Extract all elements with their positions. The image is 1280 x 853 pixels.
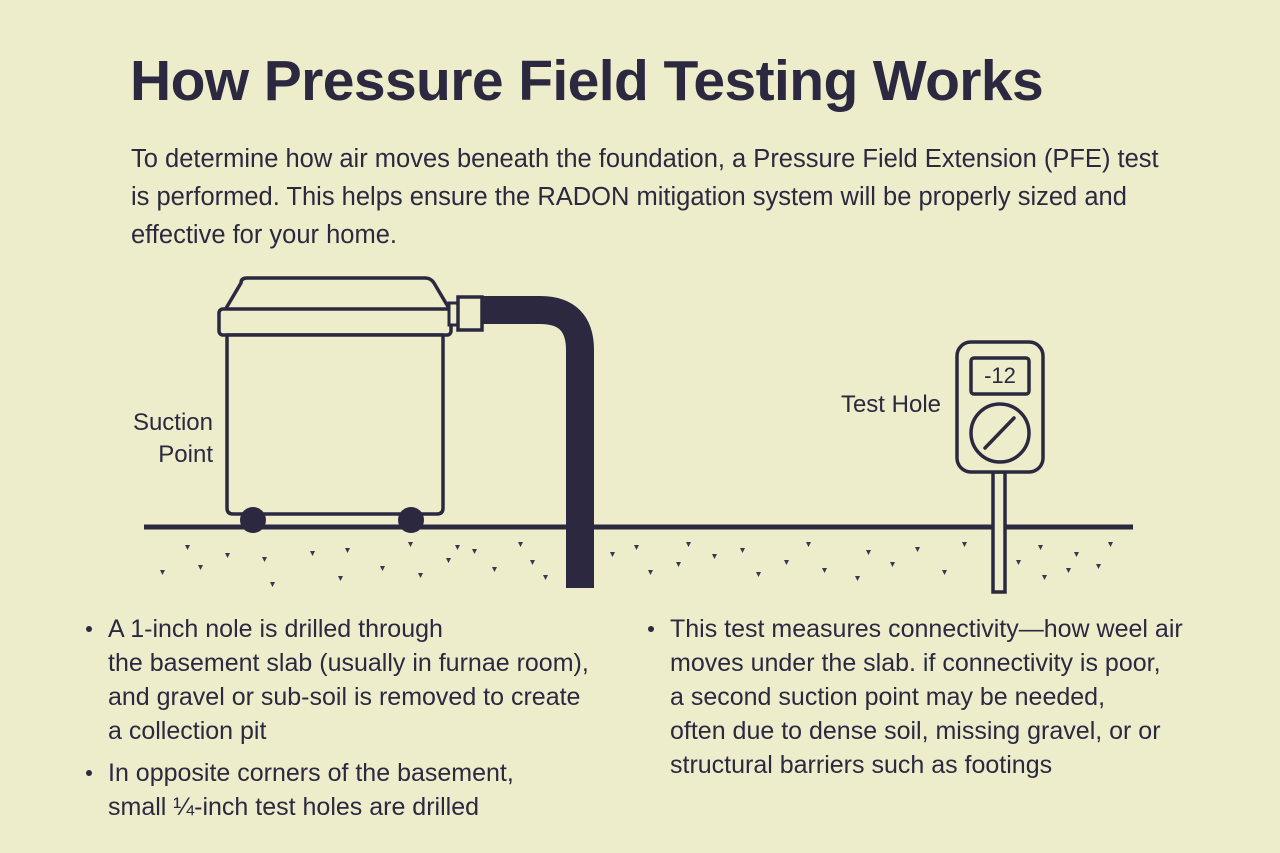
- page-title: How Pressure Field Testing Works: [130, 52, 1190, 112]
- manometer-reading: -12: [984, 363, 1016, 388]
- suction-hose: [449, 297, 580, 588]
- container-rim: [219, 309, 451, 335]
- soil-gravel-texture: [160, 542, 1113, 587]
- test-hole-tube: [993, 472, 1005, 592]
- left-bullet-items: A 1-inch nole is drilled through the bas…: [78, 612, 648, 824]
- container-lid: [225, 278, 450, 310]
- hose-coupler: [458, 297, 482, 330]
- suction-point-label: Suction Point: [78, 407, 213, 471]
- infographic-page: How Pressure Field Testing Works To dete…: [0, 0, 1280, 853]
- left-bullet-list: A 1-inch nole is drilled through the bas…: [78, 612, 648, 832]
- right-bullet-items: This test measures connectivity—how weel…: [640, 612, 1220, 782]
- micromanometer: -12: [957, 342, 1043, 472]
- right-bullet-list: This test measures connectivity—how weel…: [640, 612, 1220, 790]
- container-body: [227, 335, 443, 514]
- list-item: In opposite corners of the basement, sma…: [78, 756, 648, 824]
- list-item: This test measures connectivity—how weel…: [640, 612, 1220, 782]
- intro-paragraph: To determine how air moves beneath the f…: [131, 140, 1161, 254]
- test-hole-label: Test Hole: [763, 389, 941, 421]
- list-item: A 1-inch nole is drilled through the bas…: [78, 612, 648, 748]
- suction-point-container: [219, 278, 451, 533]
